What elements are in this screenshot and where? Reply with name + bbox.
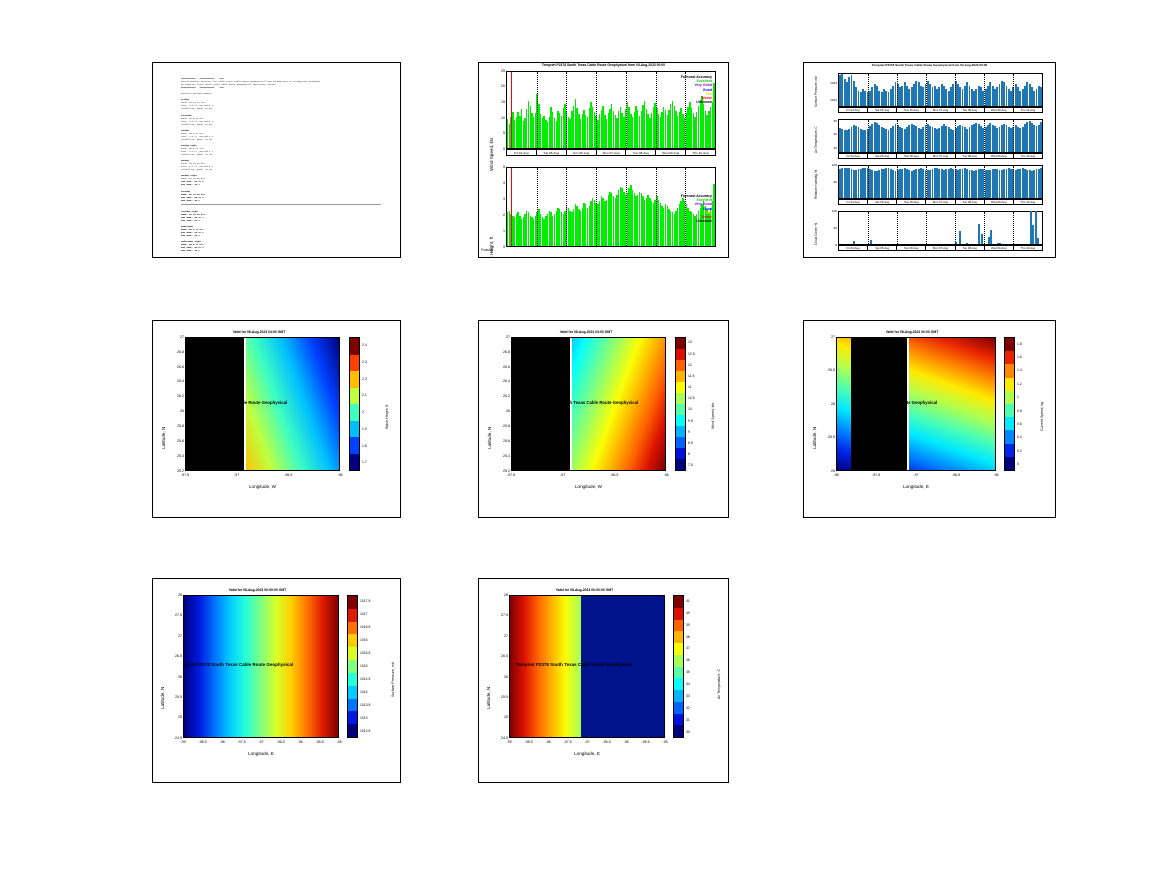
wave-legend: Forecast Accuracy Excellent Very Good Go… bbox=[681, 194, 712, 223]
colorbar-tick: 1012.5 bbox=[360, 729, 370, 733]
day-divider bbox=[537, 168, 538, 246]
day-label: Fri 04-Aug bbox=[839, 200, 868, 204]
x-tick: -95.5 bbox=[310, 740, 330, 744]
day-divider bbox=[596, 168, 597, 246]
colorbar-tick: 30 bbox=[686, 730, 690, 734]
day-divider bbox=[955, 74, 956, 106]
day-label: Wed 09-Aug bbox=[985, 108, 1014, 112]
day-divider bbox=[868, 166, 869, 198]
y-tick: 25.5 bbox=[491, 695, 508, 699]
colorbar-tick: 1.2 bbox=[1017, 382, 1022, 386]
colorbar-tick: 10.5 bbox=[688, 396, 695, 400]
colorbar-segment bbox=[348, 609, 357, 622]
colorbar-segment bbox=[676, 415, 685, 426]
colorbar-tick: 1014 bbox=[360, 690, 368, 694]
figure-grid: =========== =========== ===Marine Weathe… bbox=[0, 0, 1167, 875]
colorbar-segment bbox=[676, 393, 685, 404]
wind-map-ylabel: Latitude, N bbox=[487, 427, 492, 449]
wind-map-colorbar bbox=[675, 337, 686, 471]
colorbar-tick: 2.1 bbox=[362, 393, 367, 397]
colorbar-segment bbox=[1005, 351, 1014, 364]
wave-map-xlabel: Longitude, W bbox=[185, 484, 340, 489]
x-tick: -97 bbox=[251, 740, 271, 744]
y-tick: 26 bbox=[818, 402, 835, 406]
colorbar-tick: 1017 bbox=[360, 612, 368, 616]
colorbar-tick: 13 bbox=[688, 340, 692, 344]
day-label: Sun 06-Aug bbox=[897, 108, 926, 112]
x-tick: -97.5 bbox=[175, 473, 195, 477]
colorbar-tick: 32 bbox=[686, 706, 690, 710]
day-label: Tue 08-Aug bbox=[626, 150, 656, 155]
x-tick: -97.5 bbox=[501, 473, 521, 477]
x-tick: -99 bbox=[173, 740, 193, 744]
x-tick: -96 bbox=[656, 473, 676, 477]
wave-now-line bbox=[511, 168, 512, 246]
colorbar-segment bbox=[674, 620, 683, 632]
colorbar-segment bbox=[348, 634, 357, 647]
x-tick: -95.5 bbox=[636, 740, 656, 744]
map-watermark: South Texas Cable Route Geophysical bbox=[859, 400, 937, 405]
day-divider bbox=[566, 72, 567, 148]
x-tick: -98 bbox=[538, 740, 558, 744]
met-timeseries-title: Tempriet P2378 South Texas Cable Route G… bbox=[804, 63, 1055, 67]
colorbar-segment bbox=[348, 596, 357, 609]
day-divider bbox=[926, 74, 927, 106]
current-map-canvas: South Texas Cable Route Geophysical bbox=[836, 337, 996, 471]
wave-map-colorbar-label: Wave Height, ft bbox=[385, 405, 389, 429]
y-tick: 25.8 bbox=[493, 424, 510, 428]
colorbar-tick: 11 bbox=[688, 385, 692, 389]
airtemp-map-canvas: Tempriet P2378 South Texas Cable Route G… bbox=[509, 595, 665, 738]
wind-speed-axes: Forecast Accuracy Excellent Very Good Go… bbox=[506, 71, 716, 149]
met-y-tick: 25 bbox=[821, 132, 837, 136]
day-label: Mon 07-Aug bbox=[926, 200, 955, 204]
day-label: Sat 05-Aug bbox=[868, 246, 897, 250]
colorbar-segment bbox=[1005, 391, 1014, 404]
y-tick: 27 bbox=[491, 634, 508, 638]
x-tick: -96 bbox=[616, 740, 636, 744]
colorbar-tick: 8 bbox=[688, 452, 690, 456]
x-tick: -97 bbox=[553, 473, 573, 477]
day-label: Wed 09-Aug bbox=[985, 200, 1014, 204]
day-divider bbox=[984, 120, 985, 152]
colorbar-tick: 1015.5 bbox=[360, 651, 370, 655]
colorbar-tick: 33 bbox=[686, 694, 690, 698]
colorbar-segment bbox=[674, 714, 683, 726]
met-y-tick: 100 bbox=[821, 163, 837, 167]
day-divider bbox=[1013, 74, 1014, 106]
wind-day-strip: Fri 04-AugSat 05-AugSun 06-AugMon 07-Aug… bbox=[506, 149, 716, 156]
y-tick: 10 bbox=[495, 116, 505, 120]
colorbar-segment bbox=[676, 437, 685, 448]
map-watermark: South Texas Cable Route Geophysical bbox=[209, 400, 287, 405]
colorbar-segment bbox=[350, 371, 359, 388]
report-line: SEA TEMP: 30 C bbox=[181, 199, 390, 202]
met-ylabel: Relative Humidity, % bbox=[814, 170, 818, 199]
met-bars bbox=[839, 164, 1042, 198]
colorbar-tick: 9.5 bbox=[688, 419, 693, 423]
y-tick: 25.8 bbox=[167, 424, 184, 428]
x-tick: -96 bbox=[986, 473, 1006, 477]
report-line: SEA TEMP: 30 C bbox=[181, 249, 390, 252]
wave-height-axes: Forecast Accuracy Excellent Very Good Go… bbox=[506, 167, 716, 247]
colorbar-tick: 0.8 bbox=[1017, 409, 1022, 413]
colorbar-tick: 1.8 bbox=[362, 444, 367, 448]
bar bbox=[713, 83, 714, 148]
y-tick: 5 bbox=[495, 131, 505, 135]
bar bbox=[990, 230, 992, 244]
airtemp-map-xlabel: Longitude, E bbox=[509, 751, 665, 756]
day-divider bbox=[984, 166, 985, 198]
day-label: Mon 07-Aug bbox=[926, 108, 955, 112]
colorbar-segment bbox=[676, 349, 685, 360]
wave-map-canvas: South Texas Cable Route Geophysical bbox=[185, 337, 340, 471]
y-tick: 25.4 bbox=[493, 454, 510, 458]
colorbar-segment bbox=[350, 437, 359, 454]
colorbar-tick: 7.5 bbox=[688, 463, 693, 467]
x-tick: -96.5 bbox=[278, 473, 298, 477]
day-label: Sat 05-Aug bbox=[868, 108, 897, 112]
day-label: Thu 10-Aug bbox=[686, 150, 715, 155]
day-divider bbox=[955, 120, 956, 152]
panel-wind-wave-timeseries: Tempriet P2378 South Texas Cable Route G… bbox=[478, 62, 729, 258]
y-tick: 25.6 bbox=[493, 439, 510, 443]
pressure-map-canvas: Tempriet P2378 South Texas Cable Route G… bbox=[183, 595, 339, 738]
colorbar-segment bbox=[674, 725, 683, 737]
wind-speed-ylabel: Wind Speed, kts bbox=[489, 138, 494, 171]
colorbar-tick: 10 bbox=[688, 407, 692, 411]
colorbar-tick: 1.4 bbox=[1017, 368, 1022, 372]
y-tick: 25 bbox=[495, 69, 505, 73]
colorbar-tick: 1.8 bbox=[1017, 342, 1022, 346]
colorbar-tick: 1017.5 bbox=[360, 599, 370, 603]
y-tick: 26.8 bbox=[167, 350, 184, 354]
x-tick: -96.5 bbox=[946, 473, 966, 477]
x-tick: -96.5 bbox=[271, 740, 291, 744]
day-divider bbox=[897, 74, 898, 106]
colorbar-tick: 9 bbox=[688, 430, 690, 434]
colorbar-segment bbox=[348, 711, 357, 724]
colorbar-segment bbox=[676, 371, 685, 382]
day-label: Wed 09-Aug bbox=[985, 154, 1014, 158]
met-ylabel: Air Temperature, C bbox=[814, 126, 818, 153]
y-tick: 0 bbox=[495, 147, 505, 151]
colorbar-tick: 41 bbox=[686, 599, 690, 603]
current-map-colorbar bbox=[1004, 337, 1015, 471]
day-label: Sun 06-Aug bbox=[897, 246, 926, 250]
colorbar-segment bbox=[350, 404, 359, 421]
met-y-tick: 1013 bbox=[821, 81, 837, 85]
day-label: Wed 09-Aug bbox=[656, 150, 686, 155]
wind-map-title: Valid for 08-Aug-2023 04:00 GMT bbox=[499, 330, 673, 334]
bar bbox=[1040, 168, 1042, 198]
colorbar-tick: 2.2 bbox=[362, 377, 367, 381]
colorbar-tick: 8.5 bbox=[688, 441, 693, 445]
legend-unknown-2: Unknown bbox=[681, 219, 712, 223]
day-divider bbox=[955, 212, 956, 244]
panel-air-temperature-map: Valid for 08-Aug-2023 00:00:00 GMT Latit… bbox=[478, 578, 729, 783]
colorbar-tick: 1.7 bbox=[362, 460, 367, 464]
bar bbox=[1040, 122, 1042, 152]
panel-met-timeseries: Tempriet P2378 South Texas Cable Route G… bbox=[803, 62, 1056, 258]
day-divider bbox=[897, 166, 898, 198]
day-divider bbox=[596, 72, 597, 148]
met-y-tick: 50 bbox=[821, 180, 837, 184]
colorbar-tick: 1.6 bbox=[1017, 355, 1022, 359]
colorbar-segment bbox=[676, 426, 685, 437]
met-axes bbox=[838, 119, 1043, 153]
current-map-xlabel: Longitude, E bbox=[836, 484, 996, 489]
bar bbox=[959, 231, 961, 244]
x-tick: -96.5 bbox=[597, 740, 617, 744]
colorbar-segment bbox=[674, 655, 683, 667]
colorbar-segment bbox=[1005, 417, 1014, 430]
map-watermark: South Texas Cable Route Geophysical bbox=[560, 400, 638, 405]
y-tick: 26.8 bbox=[493, 350, 510, 354]
x-tick: -98 bbox=[826, 473, 846, 477]
met-bars bbox=[839, 72, 1042, 106]
wind-legend: Forecast Accuracy Excellent Very Good Go… bbox=[681, 75, 712, 104]
wind-map-xlabel: Longitude, W bbox=[511, 484, 666, 489]
day-divider bbox=[868, 212, 869, 244]
panel-wind-speed-map: Valid for 08-Aug-2023 04:00 GMT Latitude… bbox=[478, 320, 729, 518]
bar bbox=[713, 184, 714, 246]
y-tick: 25.5 bbox=[818, 435, 835, 439]
y-tick: 26.4 bbox=[493, 379, 510, 383]
bar bbox=[853, 241, 855, 244]
y-tick: 25.6 bbox=[167, 439, 184, 443]
airtemp-map-colorbar-label: Air Temperature, C bbox=[717, 669, 721, 699]
colorbar-segment bbox=[674, 596, 683, 608]
day-divider bbox=[984, 212, 985, 244]
bar bbox=[1040, 87, 1042, 106]
y-tick: 27 bbox=[493, 335, 510, 339]
day-divider bbox=[926, 120, 927, 152]
day-divider bbox=[656, 168, 657, 246]
day-divider bbox=[1013, 212, 1014, 244]
day-divider bbox=[626, 168, 627, 246]
day-divider bbox=[656, 72, 657, 148]
colorbar-segment bbox=[1005, 457, 1014, 470]
colorbar-segment bbox=[676, 360, 685, 371]
day-label: Sat 05-Aug bbox=[868, 154, 897, 158]
colorbar-tick: 39 bbox=[686, 623, 690, 627]
day-label: Tue 08-Aug bbox=[956, 246, 985, 250]
colorbar-segment bbox=[674, 667, 683, 679]
y-tick: 26.4 bbox=[167, 379, 184, 383]
x-tick: -97.5 bbox=[558, 740, 578, 744]
colorbar-segment bbox=[676, 459, 685, 470]
colorbar-tick: 35 bbox=[686, 670, 690, 674]
pressure-map-xlabel: Longitude, E bbox=[183, 751, 339, 756]
day-label: Fri 04-Aug bbox=[839, 246, 868, 250]
colorbar-tick: 1 bbox=[1017, 395, 1019, 399]
y-tick: 27 bbox=[165, 634, 182, 638]
x-tick: -97 bbox=[577, 740, 597, 744]
colorbar-segment bbox=[1005, 430, 1014, 443]
colorbar-segment bbox=[350, 421, 359, 438]
day-label: Fri 04-Aug bbox=[839, 154, 868, 158]
wave-map-ylabel: Latitude, N bbox=[161, 427, 166, 449]
day-divider bbox=[868, 120, 869, 152]
x-tick: -96 bbox=[330, 473, 350, 477]
colorbar-tick: 12.5 bbox=[688, 352, 695, 356]
day-label: Thu 10-Aug bbox=[1014, 200, 1042, 204]
colorbar-tick: 1016.5 bbox=[360, 625, 370, 629]
y-tick: 1 bbox=[495, 229, 505, 233]
day-divider bbox=[897, 212, 898, 244]
colorbar-segment bbox=[348, 686, 357, 699]
colorbar-segment bbox=[674, 608, 683, 620]
day-divider bbox=[984, 74, 985, 106]
y-tick: 5 bbox=[495, 165, 505, 169]
wave-map-title: Valid for 08-Aug-2023 04:00 GMT bbox=[173, 330, 345, 334]
day-divider bbox=[926, 212, 927, 244]
y-tick: 28 bbox=[491, 593, 508, 597]
y-tick: 25 bbox=[165, 715, 182, 719]
y-tick: 15 bbox=[495, 100, 505, 104]
colorbar-segment bbox=[350, 338, 359, 355]
met-bars bbox=[839, 210, 1042, 244]
colorbar-tick: 34 bbox=[686, 682, 690, 686]
colorbar-segment bbox=[348, 724, 357, 737]
x-tick: -99 bbox=[499, 740, 519, 744]
day-label: Thu 10-Aug bbox=[1014, 246, 1042, 250]
report-body: =========== =========== ===Marine Weathe… bbox=[153, 63, 400, 258]
met-ylabel: Surface Pressure, mb bbox=[814, 76, 818, 107]
current-map-ylabel: Latitude, N bbox=[812, 427, 817, 449]
report-divider bbox=[181, 204, 381, 205]
met-day-strip: Fri 04-AugSat 05-AugSun 06-AugMon 07-Aug… bbox=[838, 153, 1043, 159]
colorbar-tick: 1.9 bbox=[362, 427, 367, 431]
day-label: Sun 06-Aug bbox=[567, 150, 597, 155]
colorbar-tick: 11.5 bbox=[688, 374, 694, 378]
colorbar-tick: 2.4 bbox=[362, 343, 367, 347]
colorbar-segment bbox=[350, 454, 359, 471]
met-day-strip: Fri 04-AugSat 05-AugSun 06-AugMon 07-Aug… bbox=[838, 245, 1043, 251]
met-axes bbox=[838, 165, 1043, 199]
met-axes bbox=[838, 73, 1043, 107]
y-tick: 27.5 bbox=[165, 613, 182, 617]
x-tick: -97 bbox=[906, 473, 926, 477]
met-day-strip: Fri 04-AugSat 05-AugSun 06-AugMon 07-Aug… bbox=[838, 107, 1043, 113]
colorbar-tick: 1013 bbox=[360, 716, 368, 720]
colorbar-segment bbox=[674, 690, 683, 702]
y-tick: 26.2 bbox=[493, 394, 510, 398]
day-label: Sat 05-Aug bbox=[868, 200, 897, 204]
forecast-xlabel: Forecast bbox=[481, 248, 511, 252]
legend-unknown: Unknown bbox=[681, 100, 712, 104]
colorbar-tick: 40 bbox=[686, 611, 690, 615]
day-label: Tue 08-Aug bbox=[956, 200, 985, 204]
y-tick: 27.5 bbox=[491, 613, 508, 617]
y-tick: 26.2 bbox=[167, 394, 184, 398]
y-tick: 28 bbox=[165, 593, 182, 597]
day-divider bbox=[566, 168, 567, 246]
colorbar-segment bbox=[348, 647, 357, 660]
map-watermark: Tempriet P2378 South Texas Cable Route G… bbox=[516, 662, 632, 667]
y-tick: 20 bbox=[495, 84, 505, 88]
colorbar-segment bbox=[350, 388, 359, 405]
panel-pressure-map: Valid for 08-Aug-2023 00:00:00 GMT Latit… bbox=[152, 578, 401, 783]
day-label: Tue 08-Aug bbox=[956, 154, 985, 158]
pressure-map-colorbar bbox=[347, 595, 358, 738]
met-y-tick: 100 bbox=[821, 209, 837, 213]
y-tick: 25.5 bbox=[165, 695, 182, 699]
x-tick: -98.5 bbox=[519, 740, 539, 744]
colorbar-tick: 1014.5 bbox=[360, 677, 370, 681]
colorbar-tick: 0 bbox=[1017, 462, 1019, 466]
met-bars bbox=[839, 118, 1042, 152]
y-tick: 3 bbox=[495, 197, 505, 201]
colorbar-segment bbox=[348, 660, 357, 673]
colorbar-segment bbox=[350, 355, 359, 372]
y-tick: 27 bbox=[818, 335, 835, 339]
met-y-tick: 1012 bbox=[821, 98, 837, 102]
colorbar-segment bbox=[674, 678, 683, 690]
wind-now-line bbox=[511, 72, 512, 148]
colorbar-segment bbox=[1005, 404, 1014, 417]
met-y-tick: 0 bbox=[821, 243, 837, 247]
colorbar-segment bbox=[1005, 338, 1014, 351]
y-tick: 26.5 bbox=[818, 368, 835, 372]
timeseries-title: Tempriet P2378 South Texas Cable Route G… bbox=[479, 63, 728, 67]
colorbar-tick: 37 bbox=[686, 646, 690, 650]
colorbar-tick: 0.4 bbox=[1017, 435, 1022, 439]
day-label: Sat 05-Aug bbox=[537, 150, 567, 155]
day-divider bbox=[626, 72, 627, 148]
colorbar-segment bbox=[676, 404, 685, 415]
x-tick: -97.5 bbox=[232, 740, 252, 744]
day-label: Thu 10-Aug bbox=[1014, 154, 1042, 158]
bar bbox=[1037, 238, 1039, 244]
colorbar-segment bbox=[674, 631, 683, 643]
y-tick: 26.6 bbox=[167, 365, 184, 369]
colorbar-segment bbox=[1005, 378, 1014, 391]
colorbar-segment bbox=[676, 338, 685, 349]
met-day-strip: Fri 04-AugSat 05-AugSun 06-AugMon 07-Aug… bbox=[838, 199, 1043, 205]
airtemp-map-title: Valid for 08-Aug-2023 00:00:00 GMT bbox=[499, 588, 670, 592]
y-tick: 26.5 bbox=[491, 654, 508, 658]
bar bbox=[981, 234, 983, 244]
day-label: Wed 09-Aug bbox=[985, 246, 1014, 250]
wave-map-colorbar bbox=[349, 337, 360, 471]
colorbar-tick: 2 bbox=[362, 410, 364, 414]
day-label: Thu 10-Aug bbox=[1014, 108, 1042, 112]
current-map-colorbar-label: Current Speed, kg bbox=[1040, 402, 1044, 431]
y-tick: 4 bbox=[495, 181, 505, 185]
y-tick: 26 bbox=[167, 409, 184, 413]
colorbar-tick: 1015 bbox=[360, 664, 368, 668]
day-label: Mon 07-Aug bbox=[926, 246, 955, 250]
met-axes bbox=[838, 211, 1043, 245]
colorbar-tick: 12 bbox=[688, 363, 692, 367]
y-tick: 2 bbox=[495, 213, 505, 217]
airtemp-map-colorbar bbox=[673, 595, 684, 738]
colorbar-segment bbox=[674, 702, 683, 714]
colorbar-segment bbox=[676, 448, 685, 459]
colorbar-segment bbox=[348, 699, 357, 712]
y-tick: 26.5 bbox=[165, 654, 182, 658]
x-tick: -98.5 bbox=[193, 740, 213, 744]
x-tick: -95 bbox=[655, 740, 675, 744]
met-y-tick: 20 bbox=[821, 146, 837, 150]
colorbar-segment bbox=[348, 673, 357, 686]
day-divider bbox=[926, 166, 927, 198]
panel-text-report: =========== =========== ===Marine Weathe… bbox=[152, 62, 401, 258]
day-divider bbox=[897, 120, 898, 152]
day-divider bbox=[1013, 166, 1014, 198]
